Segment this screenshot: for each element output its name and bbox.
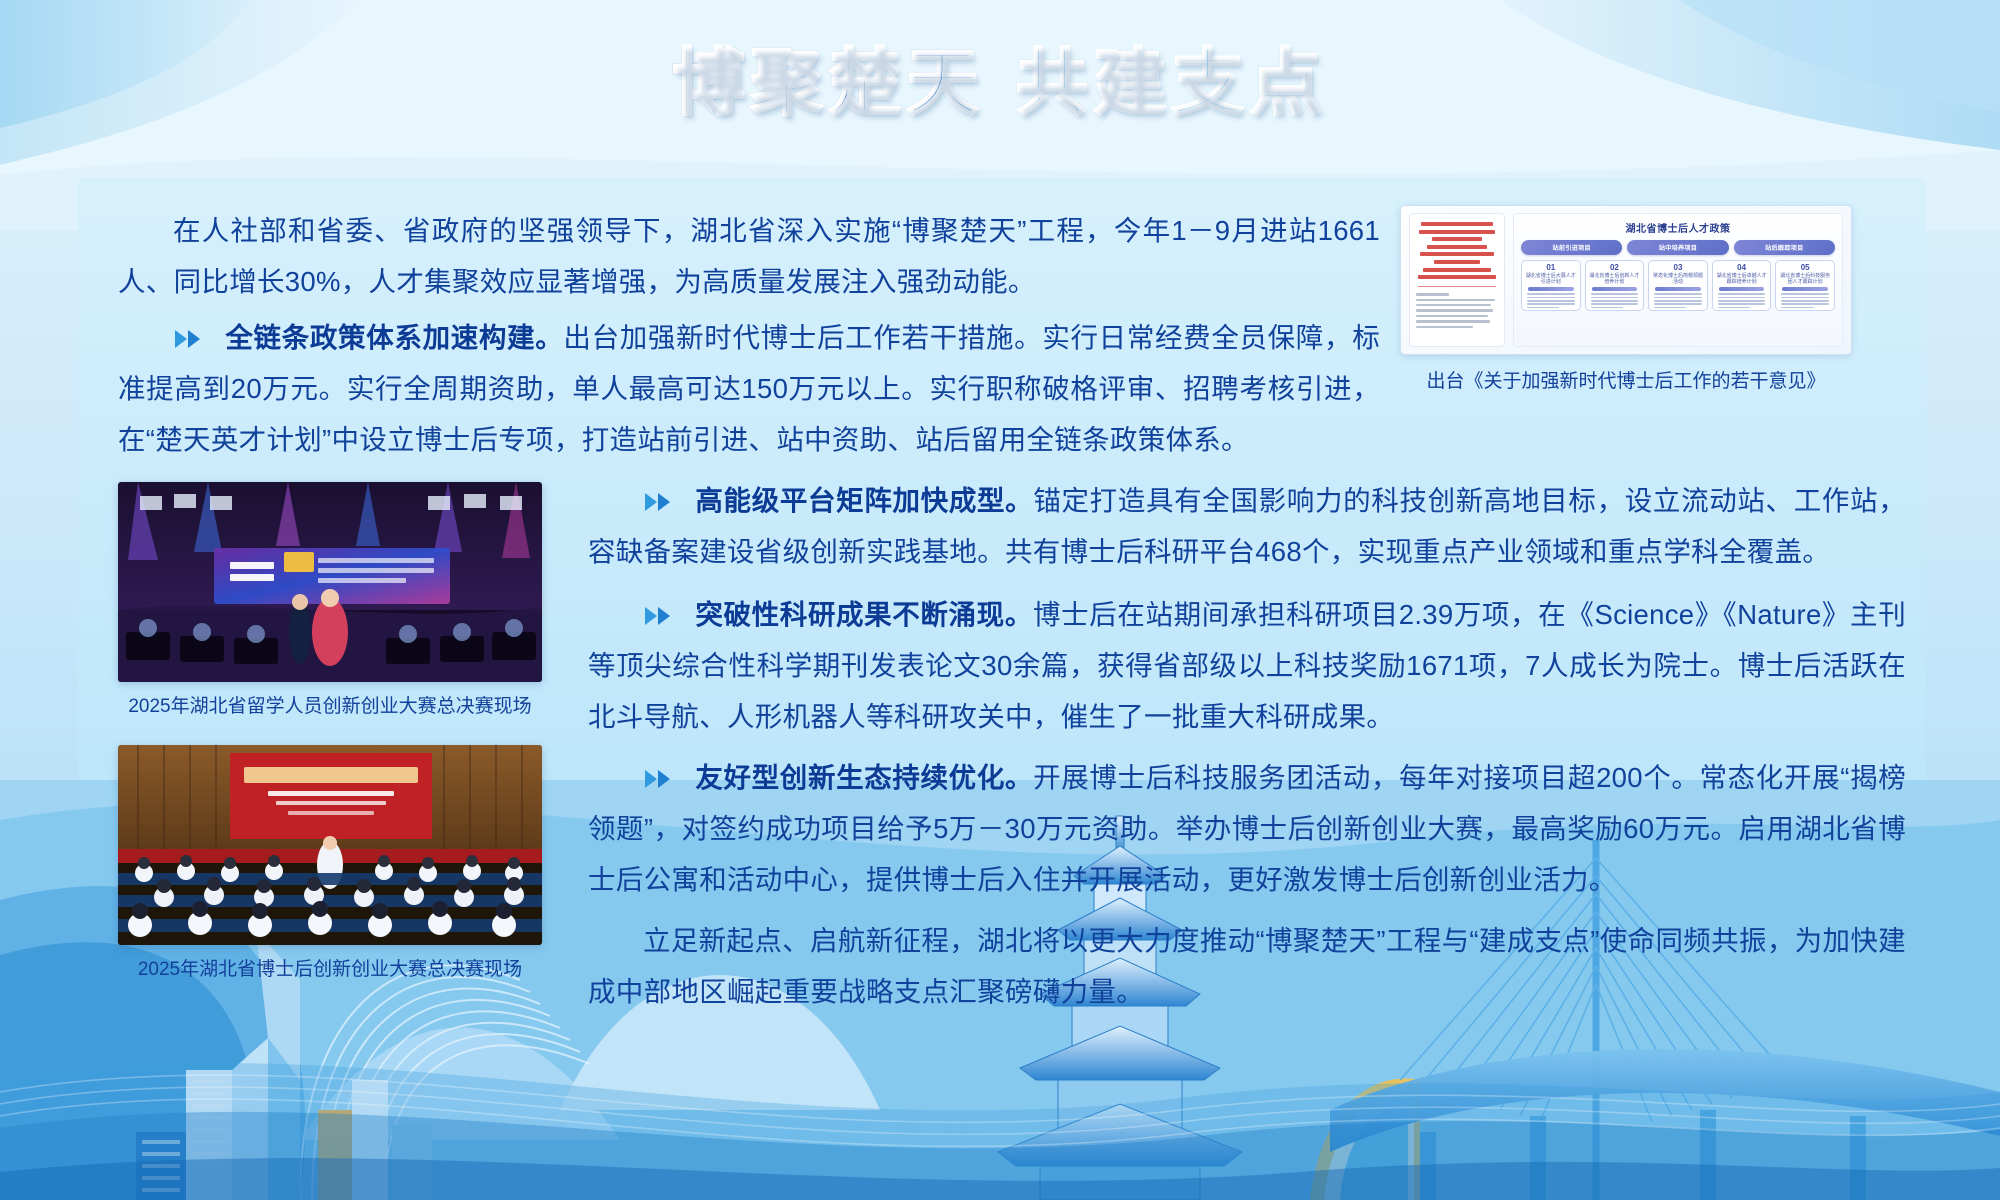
double-chevron-right-icon (643, 605, 683, 627)
policy-item-bar (1782, 287, 1828, 291)
policy-item-desc (1588, 293, 1642, 308)
paragraph-research: 突破性科研成果不断涌现。博士后在站期间承担科研项目2.39万项，在《Scienc… (588, 589, 1906, 742)
paragraph-research-heading: 突破性科研成果不断涌现。 (695, 599, 1033, 630)
poster-canvas: 博聚楚天 共建支点 在人社部和省委、省政府的坚强领导下，湖北省深入实施“博聚楚天… (0, 0, 2000, 1200)
policy-item-card: 05 湖北省博士后科技服务团人才跟踪计划 (1775, 260, 1835, 311)
policy-stage-mid: 站中培养项目 (1627, 240, 1728, 255)
policy-item-name: 湖北省博士后卓越人才跟踪培养计划 (1715, 273, 1769, 286)
policy-item-name: 湖北省博士后科技服务团人才跟踪计划 (1778, 273, 1832, 286)
photo-block-auditorium: 2025年湖北省博士后创新创业大赛总决赛现场 (118, 745, 542, 981)
page-title: 博聚楚天 共建支点 (672, 46, 1327, 122)
double-chevron-right-icon (643, 768, 683, 790)
policy-stage-row: 站前引进项目 站中培养项目 站后跟踪项目 (1521, 240, 1835, 255)
policy-item-card: 02 湖北省博士后创新人才培养计划 (1585, 260, 1645, 311)
paragraph-platform-heading: 高能级平台矩阵加快成型。 (695, 485, 1033, 516)
policy-figure-frame: 湖北省博士后人才政策 站前引进项目 站中培养项目 站后跟踪项目 01 湖北省博士… (1400, 205, 1852, 355)
policy-item-card: 03 常态化博士后简帽领题活动 (1648, 260, 1708, 311)
paragraph-ecosystem-heading: 友好型创新生态持续优化。 (695, 762, 1033, 793)
policy-item-name: 常态化博士后简帽领题活动 (1651, 273, 1705, 286)
policy-item-number: 04 (1715, 264, 1769, 273)
photo-caption: 2025年湖北省博士后创新创业大赛总决赛现场 (118, 954, 542, 981)
paragraph-intro: 在人社部和省委、省政府的坚强领导下，湖北省深入实施“博聚楚天”工程，今年1－9月… (118, 205, 1380, 307)
policy-item-bar (1655, 287, 1701, 291)
policy-item-card: 04 湖北省博士后卓越人才跟踪培养计划 (1712, 260, 1772, 311)
policy-item-number: 02 (1588, 264, 1642, 273)
figure-policy-caption: 出台《关于加强新时代博士后工作的若干意见》 (1400, 366, 1852, 393)
policy-structure-chart: 湖北省博士后人才政策 站前引进项目 站中培养项目 站后跟踪项目 01 湖北省博士… (1513, 213, 1843, 347)
policy-item-bar (1592, 287, 1638, 291)
policy-item-desc (1715, 293, 1769, 308)
paragraph-intro-text: 在人社部和省委、省政府的坚强领导下，湖北省深入实施“博聚楚天”工程，今年1－9月… (118, 215, 1380, 297)
paragraph-ecosystem: 友好型创新生态持续优化。开展博士后科技服务团活动，每年对接项目超200个。常态化… (588, 752, 1906, 905)
paragraph-platform: 高能级平台矩阵加快成型。锚定打造具有全国影响力的科技创新高地目标，设立流动站、工… (588, 475, 1906, 577)
paragraph-closing-text: 立足新起点、启航新征程，湖北将以更大力度推动“博聚楚天”工程与“建成支点”使命同… (588, 925, 1906, 1007)
policy-document-thumbnail (1409, 213, 1505, 347)
photo-auditorium (118, 745, 542, 945)
policy-item-bar (1528, 287, 1574, 291)
policy-item-number: 05 (1778, 264, 1832, 273)
policy-stage-post: 站后跟踪项目 (1734, 240, 1835, 255)
paragraph-closing: 立足新起点、启航新征程，湖北将以更大力度推动“博聚楚天”工程与“建成支点”使命同… (588, 915, 1906, 1017)
policy-item-name: 湖北省博士后创新人才培养计划 (1588, 273, 1642, 286)
content-area: 在人社部和省委、省政府的坚强领导下，湖北省深入实施“博聚楚天”工程，今年1－9月… (0, 0, 2000, 1200)
policy-item-cards: 01 湖北省博士后大展人才引进计划 02 湖北省博士后创新人才培养计划 (1521, 260, 1835, 311)
double-chevron-right-icon (643, 491, 683, 513)
double-chevron-right-icon (173, 328, 213, 350)
policy-item-number: 03 (1651, 264, 1705, 273)
figure-policy-document: 湖北省博士后人才政策 站前引进项目 站中培养项目 站后跟踪项目 01 湖北省博士… (1400, 205, 1852, 387)
policy-item-desc (1524, 293, 1578, 308)
policy-chart-title: 湖北省博士后人才政策 (1521, 220, 1835, 235)
policy-item-bar (1719, 287, 1765, 291)
photo-competition-stage (118, 482, 542, 682)
paragraph-policy-heading: 全链条政策体系加速构建。 (225, 322, 563, 353)
policy-item-card: 01 湖北省博士后大展人才引进计划 (1521, 260, 1581, 311)
photo-caption: 2025年湖北省留学人员创新创业大赛总决赛现场 (118, 691, 542, 718)
paragraph-policy: 全链条政策体系加速构建。出台加强新时代博士后工作若干措施。实行日常经费全员保障，… (118, 312, 1380, 465)
poster-title-wrapper: 博聚楚天 共建支点 (0, 46, 2000, 122)
policy-stage-pre: 站前引进项目 (1521, 240, 1622, 255)
policy-item-name: 湖北省博士后大展人才引进计划 (1524, 273, 1578, 286)
photo-block-competition-stage: 2025年湖北省留学人员创新创业大赛总决赛现场 (118, 482, 542, 718)
policy-item-desc (1651, 293, 1705, 308)
policy-item-number: 01 (1524, 264, 1578, 273)
policy-item-desc (1778, 293, 1832, 308)
